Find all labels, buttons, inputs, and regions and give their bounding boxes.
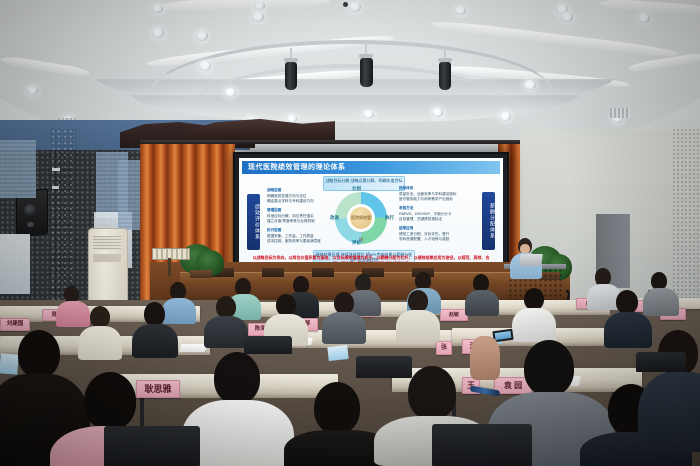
chair	[104, 426, 200, 466]
attendee-torso	[204, 316, 248, 348]
attendee-torso	[78, 326, 122, 360]
attendee-torso	[132, 324, 178, 358]
chair	[244, 336, 292, 354]
slide-left-group-heading: 执行层面	[267, 228, 281, 233]
ceiling-sensor-icon	[343, 2, 348, 7]
microphone-head-icon	[566, 290, 569, 293]
downlight-icon	[349, 2, 361, 12]
slide-right-group-item: 医疗服务能力与科研教学产出指标	[399, 197, 453, 202]
name-placard: 赵敏	[440, 309, 468, 321]
downlight-icon	[287, 115, 297, 123]
attendee-head	[408, 366, 456, 420]
dais-chair	[312, 268, 334, 277]
decor-light-fixture	[152, 248, 190, 260]
attendee-torso	[162, 298, 196, 324]
curtain-rail	[140, 140, 570, 144]
slide-left-group-item: 成本控制、服务效率与患者满意度	[267, 239, 321, 244]
projection-screen[interactable]: 现代医院绩效管理的理论体系 绩效评价体系 薪酬分配体系 战略目标分解 战略远景分…	[233, 152, 509, 276]
spotlight-icon	[439, 62, 451, 90]
slide-top-box: 战略目标分解 战略远景分解、明确年度目标	[323, 176, 405, 191]
pdca-cycle-diagram: 医院绩效管理	[335, 192, 387, 244]
attendee-torso	[512, 308, 556, 342]
slide-left-group-heading: 战略层面	[267, 188, 281, 193]
ceiling-vent	[610, 108, 630, 118]
attendee-head	[408, 290, 428, 312]
slide-right-group-item: 目标管理、关键绩效指标法	[399, 217, 442, 222]
structural-column-left	[50, 128, 76, 308]
attendee-head	[334, 292, 354, 314]
plant-pot	[190, 270, 212, 278]
slide-right-group-item: 学科资源配置、人才培养与激励	[399, 237, 449, 242]
presenter-laptop	[519, 254, 543, 266]
downlight-icon	[524, 80, 536, 90]
air-conditioner-panel	[93, 254, 121, 262]
slide-right-group-heading: 指标体系	[399, 186, 413, 191]
attendee-arm	[470, 336, 500, 380]
dais-chair	[262, 268, 284, 277]
column-bracket	[52, 186, 59, 189]
structural-column-right	[672, 128, 700, 308]
decor-light-stand	[168, 258, 171, 276]
slide-left-panel: 绩效评价体系	[247, 194, 260, 250]
downlight-icon	[152, 4, 163, 13]
attendee-head	[524, 340, 574, 396]
downlight-icon	[199, 61, 211, 71]
slide-right-group-heading: 考核方法	[399, 206, 413, 211]
air-conditioner-grille	[93, 236, 121, 250]
window-blind	[0, 140, 36, 198]
downlight-icon	[196, 31, 208, 41]
attendee-head	[524, 288, 544, 310]
spotlight-icon	[285, 62, 297, 90]
booklet	[327, 345, 348, 361]
cycle-label-check: 评价	[352, 240, 361, 246]
slide-right-group-heading: 结果应用	[399, 226, 413, 231]
booklet	[0, 353, 19, 374]
attendee-torso	[638, 372, 700, 452]
downlight-icon	[432, 108, 443, 117]
cycle-label-act: 改进	[330, 215, 339, 221]
downlight-icon	[455, 6, 466, 15]
slide-left-group-item: 确定重点学科与专科建设方向	[267, 199, 314, 204]
chair	[432, 424, 532, 466]
downlight-icon	[225, 88, 236, 97]
attendee-head	[84, 372, 136, 430]
attendee-torso	[643, 288, 679, 316]
attendee-torso	[604, 312, 652, 348]
downlight-icon	[152, 28, 164, 38]
downlight-icon	[561, 12, 573, 22]
name-placard: 刘建国	[0, 318, 30, 331]
slide-content: 现代医院绩效管理的理论体系 绩效评价体系 薪酬分配体系 战略目标分解 战略远景分…	[239, 158, 503, 270]
attendee-head	[144, 302, 165, 326]
cycle-label-do: 执行	[385, 215, 394, 221]
name-placard: 张	[436, 341, 452, 355]
attendee-torso	[322, 312, 366, 344]
attendee-torso	[465, 290, 499, 316]
downlight-icon	[254, 1, 265, 10]
chair	[356, 356, 412, 378]
cycle-center-label: 医院绩效管理	[350, 207, 372, 229]
downlight-icon	[500, 112, 511, 121]
spotlight-icon	[360, 58, 373, 87]
attendee-head	[314, 382, 360, 434]
speaker-tweeter-icon	[27, 222, 34, 227]
downlight-icon	[27, 86, 38, 95]
attendee-head	[214, 352, 260, 404]
window-left	[0, 234, 30, 294]
downlight-icon	[638, 13, 650, 23]
attendee-torso	[396, 310, 440, 342]
column-bracket	[52, 168, 60, 171]
attendee-head	[18, 330, 60, 378]
document	[179, 344, 207, 352]
slide-title: 现代医院绩效管理的理论体系	[242, 161, 500, 174]
attendee-head	[276, 294, 296, 316]
attendee-head	[90, 306, 110, 328]
chair	[636, 352, 686, 372]
attendee-head	[216, 296, 236, 318]
slide-left-group-item: 建立月度/季度考核与反馈机制	[267, 219, 315, 224]
attendee-torso	[56, 301, 90, 327]
speaker-cone-icon	[24, 204, 37, 217]
conference-room-photo: 现代医院绩效管理的理论体系 绩效评价体系 薪酬分配体系 战略目标分解 战略远景分…	[0, 0, 700, 466]
attendee-head	[616, 290, 638, 314]
cycle-label-plan: 计划	[352, 186, 361, 192]
name-placard: 耿思雅	[136, 380, 180, 398]
downlight-icon	[252, 12, 264, 22]
slide-left-group-heading: 管理层面	[267, 208, 281, 213]
downlight-icon	[363, 110, 374, 119]
slide-right-panel: 薪酬分配体系	[482, 192, 495, 250]
